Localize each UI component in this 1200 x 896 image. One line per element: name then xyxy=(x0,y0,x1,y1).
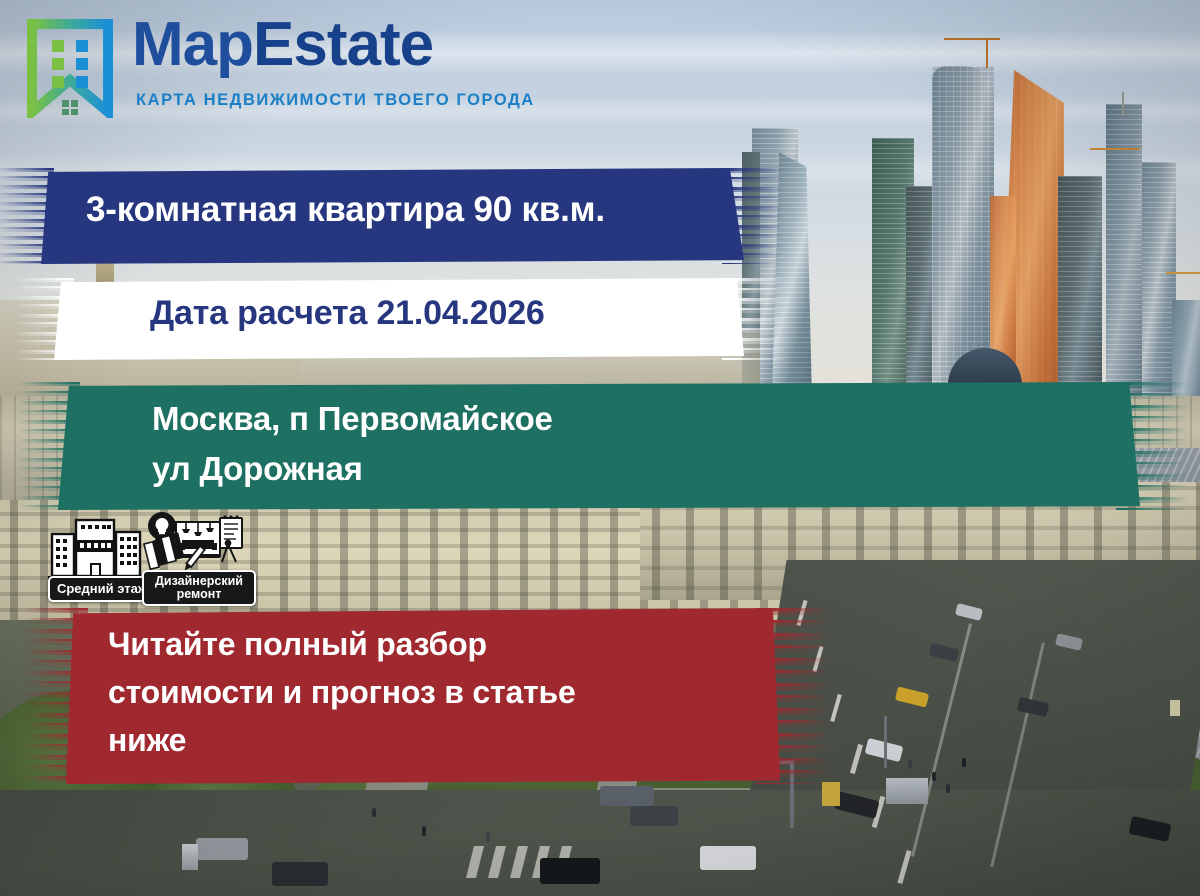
badge-renovation-label: Дизайнерский ремонт xyxy=(142,570,256,606)
banner-address-line2: ул Дорожная xyxy=(152,450,363,488)
badge-floor: Средний этаж xyxy=(46,516,150,596)
bus-shelter xyxy=(886,778,928,804)
banner-calc-date: Дата расчета 21.04.2026 xyxy=(54,278,744,360)
ad-board xyxy=(822,782,840,806)
banner-call-to-action: Читайте полный разбор стоимости и прогно… xyxy=(66,608,780,784)
banner-cta-line3: ниже xyxy=(108,722,186,759)
bookmark-building-icon xyxy=(24,18,116,118)
logo-word-estate: Estate xyxy=(253,10,433,79)
badge-floor-label: Средний этаж xyxy=(48,576,156,602)
badge-renovation: Дизайнерский ремонт xyxy=(142,510,248,598)
logo-word-map: Map xyxy=(132,10,253,79)
promo-banner-canvas: MapEstate КАРТА НЕДВИЖИМОСТИ ТВОЕГО ГОРО… xyxy=(0,0,1200,896)
banner-address: Москва, п Первомайское ул Дорожная xyxy=(58,382,1140,510)
kiosk xyxy=(182,844,198,870)
logo-tagline: КАРТА НЕДВИЖИМОСТИ ТВОЕГО ГОРОДА xyxy=(136,91,535,110)
banner-cta-line1: Читайте полный разбор xyxy=(108,626,487,663)
banner-calc-date-text: Дата расчета 21.04.2026 xyxy=(150,294,545,333)
badge-renovation-label-line2: ремонт xyxy=(146,588,252,601)
road-foreground xyxy=(0,790,1200,896)
banner-address-line1: Москва, п Первомайское xyxy=(152,400,553,438)
banner-cta-line2: стоимости и прогноз в статье xyxy=(108,674,576,711)
brand-logo[interactable]: MapEstate КАРТА НЕДВИЖИМОСТИ ТВОЕГО ГОРО… xyxy=(24,18,544,118)
apartment-building-icon xyxy=(46,516,150,580)
logo-wordmark: MapEstate xyxy=(132,14,433,76)
banner-property-title: 3-комнатная квартира 90 кв.м. xyxy=(34,168,744,264)
banner-property-title-text: 3-комнатная квартира 90 кв.м. xyxy=(86,190,605,230)
